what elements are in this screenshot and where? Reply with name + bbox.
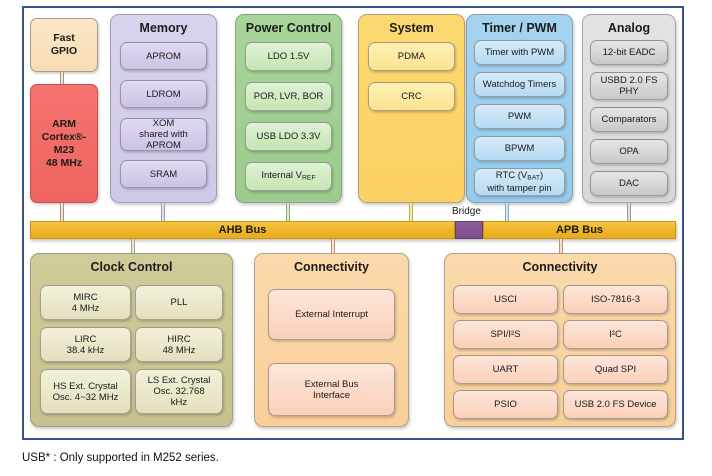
block-hs-ext-crystal[interactable]: HS Ext. CrystalOsc. 4~32 MHz	[40, 369, 131, 414]
group-title: Connectivity	[255, 260, 408, 274]
block-label: LS Ext. CrystalOsc. 32.768kHz	[148, 375, 211, 408]
block-pdma[interactable]: PDMA	[368, 42, 455, 71]
block-usbd-20-fs-phy[interactable]: USBD 2.0 FSPHY	[590, 72, 668, 100]
apb-bus-label: APB Bus	[556, 224, 603, 236]
footnote-caption: USB* : Only supported in M252 series.	[22, 452, 219, 464]
wire-apb-to-connectivity-apb	[559, 239, 563, 253]
block-label: ISO-7816-3	[591, 294, 640, 305]
block-ldrom[interactable]: LDROM	[120, 80, 207, 108]
group-title: Timer / PWM	[467, 21, 572, 35]
wire-ahb-to-clock-control	[131, 239, 135, 253]
block-psio[interactable]: PSIO	[453, 390, 558, 419]
block-label: Timer with PWM	[485, 47, 554, 58]
block-lirc[interactable]: LIRC38.4 kHz	[40, 327, 131, 362]
block-label: USB LDO 3.3V	[257, 131, 321, 142]
group-title: System	[359, 21, 464, 35]
block-usb-ldo-3v3[interactable]: USB LDO 3.3V	[245, 122, 332, 151]
block-label: SRAM	[150, 169, 177, 180]
apb-bus[interactable]: APB Bus	[483, 221, 676, 239]
block-label: 12-bit EADC	[603, 47, 656, 58]
block-hirc[interactable]: HIRC48 MHz	[135, 327, 223, 362]
block-aprom[interactable]: APROM	[120, 42, 207, 70]
block-quad-spi[interactable]: Quad SPI	[563, 355, 668, 384]
block-label: HIRC48 MHz	[163, 334, 196, 356]
wire-memory-to-ahb	[161, 203, 165, 222]
block-usb-20-fs-device[interactable]: USB 2.0 FS Device	[563, 390, 668, 419]
group-title: Analog	[583, 21, 675, 35]
group-title: Connectivity	[445, 260, 675, 274]
wire-analog-to-apb	[627, 203, 631, 222]
block-dac[interactable]: DAC	[590, 171, 668, 196]
wire-ahb-to-connectivity-ahb	[331, 239, 335, 253]
block-label: PLL	[171, 297, 188, 308]
block-fast-gpio[interactable]: FastGPIO	[30, 18, 98, 72]
block-iso-7816-3[interactable]: ISO-7816-3	[563, 285, 668, 314]
wire-cpu-to-ahb	[60, 203, 64, 222]
block-label: XOMshared with APROM	[123, 118, 204, 151]
wire-system-to-ahb	[409, 203, 413, 222]
block-label: RTC (VBAT)with tamper pin	[487, 170, 551, 195]
block-label: I²C	[609, 329, 622, 340]
group-title: Clock Control	[31, 260, 232, 274]
block-xom[interactable]: XOMshared with APROM	[120, 118, 207, 151]
block-arm-cortex-m23[interactable]: ARMCortex®-M2348 MHz	[30, 84, 98, 203]
block-watchdog-timers[interactable]: Watchdog Timers	[474, 72, 565, 97]
block-label: USCI	[494, 294, 517, 305]
block-internal-vref[interactable]: Internal VREF	[245, 162, 332, 191]
block-label: USBD 2.0 FSPHY	[600, 75, 657, 97]
bridge-label: Bridge	[452, 206, 481, 217]
block-pll[interactable]: PLL	[135, 285, 223, 320]
block-label: Internal VREF	[261, 170, 315, 184]
block-label: LIRC38.4 kHz	[67, 334, 105, 356]
block-label: Quad SPI	[595, 364, 636, 375]
block-label: PSIO	[494, 399, 517, 410]
block-pwm[interactable]: PWM	[474, 104, 565, 129]
group-title: Memory	[111, 21, 216, 35]
block-label: Watchdog Timers	[483, 79, 557, 90]
block-i2c[interactable]: I²C	[563, 320, 668, 349]
block-sram[interactable]: SRAM	[120, 160, 207, 188]
block-ldo-1v5[interactable]: LDO 1.5V	[245, 42, 332, 71]
block-label: UART	[493, 364, 519, 375]
block-external-bus-interface[interactable]: External BusInterface	[268, 363, 395, 416]
block-label: HS Ext. CrystalOsc. 4~32 MHz	[53, 381, 119, 403]
block-label: USB 2.0 FS Device	[575, 399, 657, 410]
block-label: External BusInterface	[305, 379, 359, 401]
block-rtc-vbat[interactable]: RTC (VBAT)with tamper pin	[474, 168, 565, 196]
block-label: PWM	[508, 111, 531, 122]
block-bpwm[interactable]: BPWM	[474, 136, 565, 161]
block-label: DAC	[619, 178, 639, 189]
block-label: FastGPIO	[51, 32, 77, 58]
block-spi-i2s[interactable]: SPI/I²S	[453, 320, 558, 349]
block-label: APROM	[146, 51, 181, 62]
group-title: Power Control	[236, 21, 341, 35]
block-diagram: FastGPIO ARMCortex®-M2348 MHz Memory APR…	[0, 0, 712, 476]
block-crc[interactable]: CRC	[368, 82, 455, 111]
block-usci[interactable]: USCI	[453, 285, 558, 314]
block-uart[interactable]: UART	[453, 355, 558, 384]
block-label: CRC	[401, 91, 422, 102]
block-label: LDROM	[146, 89, 180, 100]
block-label: POR, LVR, BOR	[254, 91, 324, 102]
block-label: OPA	[619, 146, 638, 157]
block-por-lvr-bor[interactable]: POR, LVR, BOR	[245, 82, 332, 111]
block-label: External Interrupt	[295, 309, 368, 320]
block-label: PDMA	[398, 51, 425, 62]
ahb-bus-label: AHB Bus	[219, 224, 267, 236]
bridge-connector[interactable]	[455, 221, 483, 239]
block-label: LDO 1.5V	[268, 51, 310, 62]
block-timer-with-pwm[interactable]: Timer with PWM	[474, 40, 565, 65]
block-external-interrupt[interactable]: External Interrupt	[268, 289, 395, 340]
block-mirc[interactable]: MIRC4 MHz	[40, 285, 131, 320]
ahb-bus[interactable]: AHB Bus	[30, 221, 455, 239]
block-opa[interactable]: OPA	[590, 139, 668, 164]
block-12bit-eadc[interactable]: 12-bit EADC	[590, 40, 668, 65]
block-label: MIRC4 MHz	[72, 292, 99, 314]
block-label: SPI/I²S	[490, 329, 520, 340]
block-label: ARMCortex®-M2348 MHz	[33, 118, 95, 170]
block-comparators[interactable]: Comparators	[590, 107, 668, 132]
block-label: Comparators	[602, 114, 657, 125]
block-label: BPWM	[505, 143, 535, 154]
wire-timer-to-apb	[505, 203, 509, 222]
wire-power-to-ahb	[286, 203, 290, 222]
block-ls-ext-crystal[interactable]: LS Ext. CrystalOsc. 32.768kHz	[135, 369, 223, 414]
